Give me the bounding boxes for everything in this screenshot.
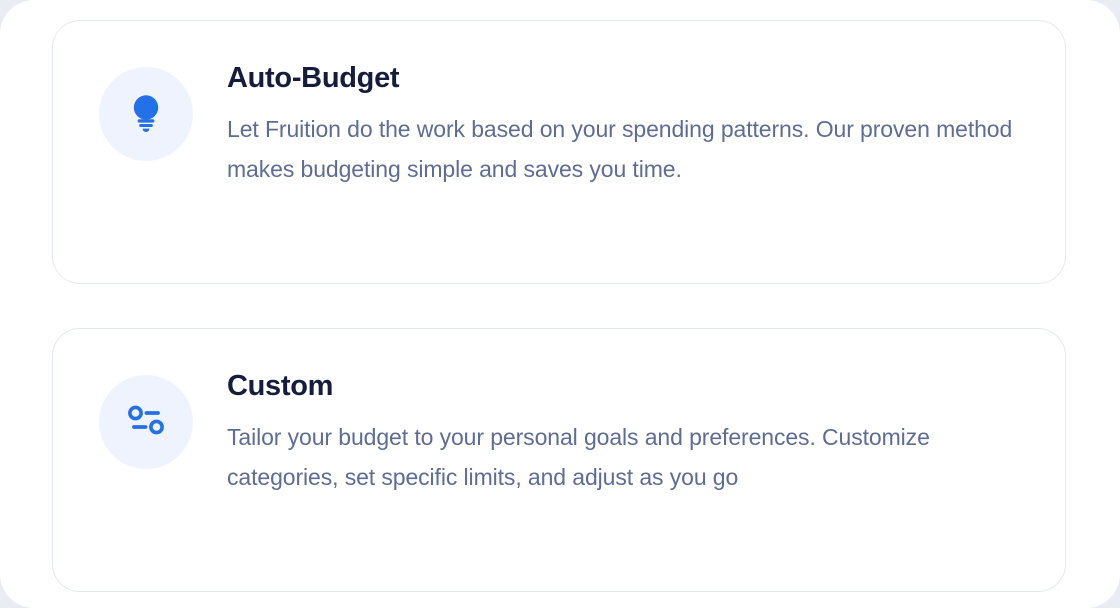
sliders-icon	[125, 400, 167, 445]
budget-option-card-custom[interactable]: Custom Tailor your budget to your person…	[52, 328, 1066, 592]
budget-option-list: Auto-Budget Let Fruition do the work bas…	[52, 20, 1066, 592]
budget-option-body: Custom Tailor your budget to your person…	[227, 369, 1021, 497]
sliders-icon-container	[99, 375, 193, 469]
budget-option-title: Auto-Budget	[227, 63, 1021, 95]
budget-option-card-auto-budget[interactable]: Auto-Budget Let Fruition do the work bas…	[52, 20, 1066, 284]
budget-options-screen: Auto-Budget Let Fruition do the work bas…	[0, 0, 1120, 608]
budget-option-description: Tailor your budget to your personal goal…	[227, 417, 1017, 497]
lightbulb-icon	[128, 92, 164, 137]
budget-option-title: Custom	[227, 371, 1021, 403]
budget-option-body: Auto-Budget Let Fruition do the work bas…	[227, 61, 1021, 189]
lightbulb-icon-container	[99, 67, 193, 161]
budget-option-description: Let Fruition do the work based on your s…	[227, 109, 1017, 189]
